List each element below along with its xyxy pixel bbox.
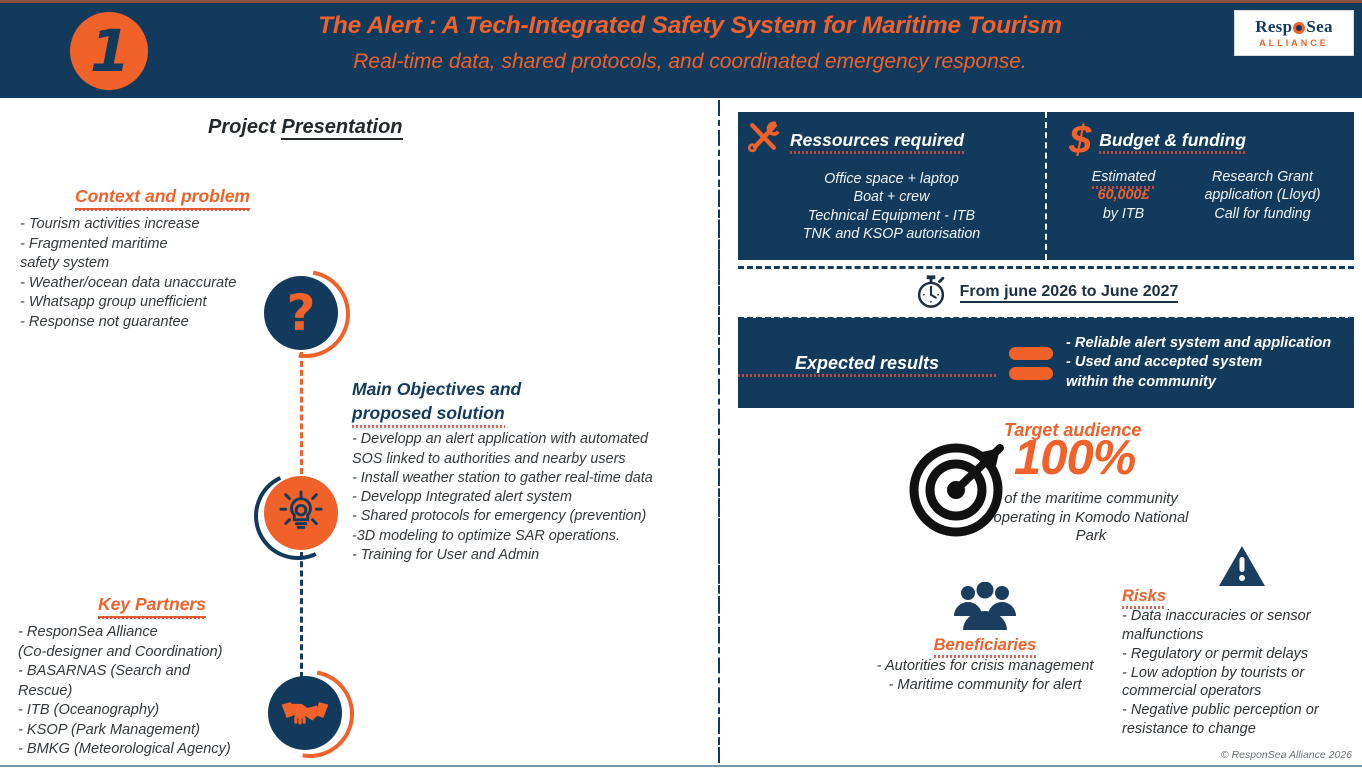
connector-objectives-partners (300, 552, 303, 678)
budget-estimate-group: Estimated 60,000£ by ITB (1064, 168, 1184, 223)
lifebuoy-icon (1293, 22, 1305, 34)
list-item: -3D modeling to optimize SAR operations. (352, 527, 712, 546)
list-item: - Shared protocols for emergency (preven… (352, 507, 712, 526)
budget-funding-group: Research Grant application (Lloyd) Call … (1188, 168, 1338, 223)
list-item: SOS linked to authorities and nearby use… (352, 450, 712, 469)
list-item: - ResponSea Alliance (18, 623, 286, 643)
budget-title: Budget & funding (1099, 130, 1246, 151)
equals-icon (996, 347, 1066, 380)
list-item: - Developp an alert application with aut… (352, 430, 712, 449)
project-presentation-title: Project Presentation (208, 116, 403, 139)
list-item: commercial operators (1122, 682, 1362, 701)
stopwatch-icon (914, 273, 948, 314)
responsea-logo: Resp Sea ALLIANCE (1234, 10, 1354, 56)
resources-block: Ressources required Office space + lapto… (738, 112, 1047, 260)
partners-heading: Key Partners (98, 594, 206, 618)
context-list: - Tourism activities increase - Fragment… (20, 215, 305, 332)
resources-title: Ressources required (790, 130, 964, 151)
list-item: resistance to change (1122, 720, 1362, 739)
target-audience-percent: 100% (1014, 434, 1135, 483)
warning-triangle-icon (1218, 544, 1266, 588)
list-item: Rescue) (18, 682, 286, 702)
page-subtitle: Real-time data, shared protocols, and co… (210, 50, 1170, 74)
list-item: - KSOP (Park Management) (18, 721, 286, 741)
list-item: - Tourism activities increase (20, 215, 305, 235)
timeline-text: From june 2026 to June 2027 (960, 283, 1179, 303)
context-block: Context and problem - Tourism activities… (20, 186, 305, 332)
list-item: Technical Equipment - ITB (738, 207, 1045, 225)
list-item: - Regulatory or permit delays (1122, 645, 1362, 664)
list-item: - Install weather station to gather real… (352, 469, 712, 488)
list-item: - Used and accepted system (1066, 353, 1354, 372)
list-item: - Response not guarantee (20, 313, 305, 333)
objectives-list: - Developp an alert application with aut… (352, 430, 712, 565)
list-item: - ITB (Oceanography) (18, 701, 286, 721)
connector-context-objectives (300, 352, 303, 474)
column-divider (718, 100, 720, 763)
expected-results-label: Expected results (738, 353, 996, 374)
objectives-heading: Main Objectives and proposed solution (352, 378, 712, 425)
lightbulb-icon (264, 476, 338, 550)
list-item: - Fragmented maritime (20, 235, 305, 255)
list-item: (Co-designer and Coordination) (18, 643, 286, 663)
page-title: The Alert : A Tech-Integrated Safety Sys… (210, 12, 1170, 40)
risks-title: Risks (1122, 587, 1166, 606)
objectives-block: Main Objectives and proposed solution - … (352, 378, 712, 565)
slide-root: 1 The Alert : A Tech-Integrated Safety S… (0, 0, 1362, 767)
slide-number-badge: 1 (70, 12, 148, 90)
expected-results-list: - Reliable alert system and application … (1066, 334, 1354, 392)
list-item: application (Lloyd) (1188, 186, 1338, 204)
list-item: TNK and KSOP autorisation (738, 225, 1045, 243)
partners-list: - ResponSea Alliance (Co-designer and Co… (18, 623, 286, 760)
left-column: Project Presentation ? (0, 100, 718, 767)
context-heading: Context and problem (75, 186, 250, 210)
risks-list: - Data inaccuracies or sensor malfunctio… (1122, 607, 1362, 739)
partners-block: Key Partners - ResponSea Alliance (Co-de… (18, 594, 286, 760)
budget-block: $ Budget & funding Estimated 60,000£ by … (1047, 112, 1354, 260)
budget-estimated-label: Estimated (1092, 168, 1156, 186)
list-item: malfunctions (1122, 626, 1362, 645)
logo-word-part-c: Sea (1306, 18, 1332, 35)
list-item: - Weather/ocean data unaccurate (20, 274, 305, 294)
header-top-rule (0, 0, 1362, 3)
tools-icon (746, 120, 782, 160)
right-column: Ressources required Office space + lapto… (730, 100, 1362, 767)
list-item: - Training for User and Admin (352, 546, 712, 565)
objectives-heading-line1: Main Objectives and (352, 378, 712, 402)
timeline-row: From june 2026 to June 2027 (738, 266, 1354, 320)
list-item: Call for funding (1188, 205, 1338, 223)
list-item: Boat + crew (738, 188, 1045, 206)
budget-by: by ITB (1064, 205, 1184, 223)
list-item: within the community (1066, 373, 1354, 392)
list-item: - Developp Integrated alert system (352, 488, 712, 507)
logo-word-part-a: Resp (1255, 18, 1292, 35)
people-icon (950, 582, 1020, 632)
resources-budget-panel: Ressources required Office space + lapto… (738, 112, 1354, 260)
resources-list: Office space + laptop Boat + crew Techni… (738, 170, 1045, 243)
logo-wordmark: Resp Sea (1255, 18, 1333, 35)
beneficiaries-title: Beneficiaries (934, 636, 1037, 655)
list-item: - Data inaccuracies or sensor (1122, 607, 1362, 626)
list-item: - BASARNAS (Search and (18, 662, 286, 682)
risks-block: Risks - Data inaccuracies or sensor malf… (1122, 544, 1362, 739)
objectives-heading-line2: proposed solution (352, 402, 505, 426)
slide-header: 1 The Alert : A Tech-Integrated Safety S… (0, 0, 1362, 98)
expected-results-panel: Expected results - Reliable alert system… (738, 318, 1354, 408)
list-item: Office space + laptop (738, 170, 1045, 188)
dollar-icon: $ (1069, 120, 1091, 160)
copyright-text: © ResponSea Alliance 2026 (1221, 749, 1352, 761)
project-title-part-a: Project (208, 116, 281, 138)
list-item: - Reliable alert system and application (1066, 334, 1354, 353)
list-item: - Low adoption by tourists or (1122, 664, 1362, 683)
logo-tagline: ALLIANCE (1259, 38, 1329, 48)
list-item: Research Grant (1188, 168, 1338, 186)
list-item: - BMKG (Meteorological Agency) (18, 740, 286, 760)
project-title-part-b: Presentation (281, 116, 402, 140)
list-item: safety system (20, 254, 305, 274)
target-audience-description: of the maritime community operating in K… (980, 490, 1202, 546)
header-title-group: The Alert : A Tech-Integrated Safety Sys… (210, 12, 1170, 74)
list-item: - Whatsapp group unefficient (20, 293, 305, 313)
list-item: - Negative public perception or (1122, 701, 1362, 720)
